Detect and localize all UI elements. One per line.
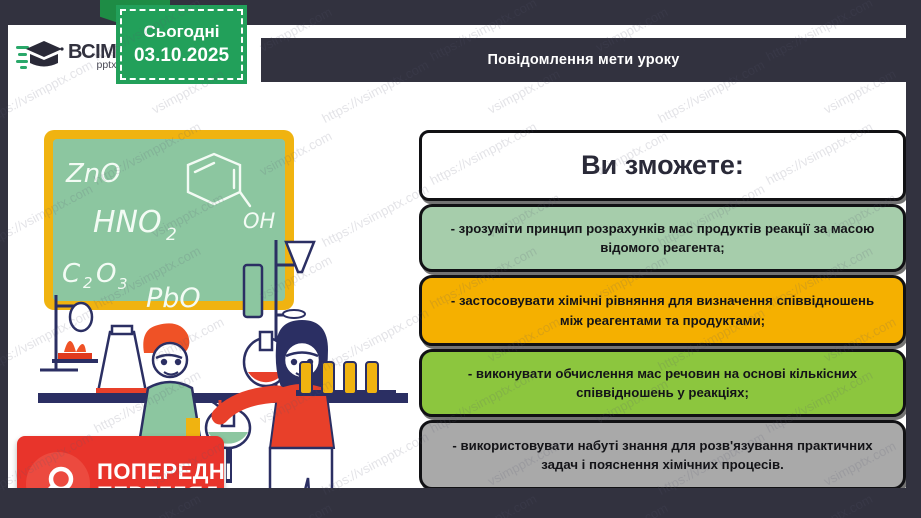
test-tube-rack bbox=[296, 362, 396, 396]
chemistry-lab-illustration: ZnO HNO 2 C 2 O 3 PbO OH bbox=[38, 110, 408, 488]
burner-flame bbox=[64, 341, 86, 352]
svg-text:PbO: PbO bbox=[146, 283, 201, 314]
graduation-cap-icon bbox=[16, 37, 64, 75]
objective-card-1[interactable]: - зрозуміти принцип розрахунків мас прод… bbox=[419, 204, 906, 272]
slide-frame: ВСІМ pptx Повідомлення мети уроку ZnO HN… bbox=[0, 0, 921, 518]
watermark-text: https://vsimpptx.com bbox=[535, 0, 647, 2]
slide-canvas: ВСІМ pptx Повідомлення мети уроку ZnO HN… bbox=[8, 25, 906, 488]
watermark-text: https://vsimpptx.com bbox=[199, 0, 311, 2]
objective-text-4: - використовувати набуті знання для розв… bbox=[438, 436, 887, 474]
watermark-text: vsimpptx.com bbox=[593, 500, 670, 518]
svg-text:2: 2 bbox=[166, 225, 177, 245]
svg-text:ZnO: ZnO bbox=[65, 159, 121, 189]
today-label: Сьогодні bbox=[144, 22, 220, 42]
watermark-text: https://vsimpptx.com bbox=[91, 491, 203, 518]
svg-text:OH: OH bbox=[243, 209, 276, 233]
magnifier-icon bbox=[26, 452, 90, 489]
preview-badge[interactable]: ПОПЕРЕДНІЙ ПЕРЕГЛЯД bbox=[17, 436, 224, 488]
objective-text-2: - застосовувати хімічні рівняння для виз… bbox=[438, 291, 887, 329]
svg-text:3: 3 bbox=[118, 275, 128, 293]
preview-label-line1: ПОПЕРЕДНІЙ bbox=[97, 461, 248, 483]
watermark-text: https://vsimpptx.com bbox=[871, 0, 921, 2]
watermark-text: https://vsimpptx.com bbox=[763, 491, 875, 518]
watermark-text: vsimpptx.com bbox=[257, 500, 334, 518]
test-tube bbox=[244, 265, 262, 317]
header-bar: Повідомлення мети уроку bbox=[261, 38, 906, 82]
objective-card-4[interactable]: - використовувати набуті знання для розв… bbox=[419, 420, 906, 488]
objective-text-3: - виконувати обчислення мас речовин на о… bbox=[438, 364, 887, 402]
svg-text:O: O bbox=[96, 259, 116, 289]
round-flask bbox=[70, 303, 92, 331]
objective-card-2[interactable]: - застосовувати хімічні рівняння для виз… bbox=[419, 275, 906, 346]
objective-text-1: - зрозуміти принцип розрахунків мас прод… bbox=[438, 219, 887, 257]
svg-text:HNO: HNO bbox=[93, 205, 162, 240]
objective-card-3[interactable]: - виконувати обчислення мас речовин на о… bbox=[419, 349, 906, 417]
objectives-title: Ви зможете: bbox=[581, 150, 744, 181]
svg-text:C: C bbox=[62, 259, 81, 289]
watermark-text: https://vsimpptx.com bbox=[427, 491, 539, 518]
today-date: 03.10.2025 bbox=[134, 45, 229, 67]
objectives-panel: Ви зможете: - зрозуміти принцип розрахун… bbox=[419, 130, 906, 488]
page-title: Повідомлення мети уроку bbox=[487, 52, 679, 68]
today-badge: Сьогодні 03.10.2025 bbox=[116, 5, 247, 84]
svg-text:2: 2 bbox=[83, 274, 93, 292]
objectives-title-card: Ви зможете: bbox=[419, 130, 906, 201]
preview-label-line2: ПЕРЕГЛЯД bbox=[97, 484, 248, 489]
